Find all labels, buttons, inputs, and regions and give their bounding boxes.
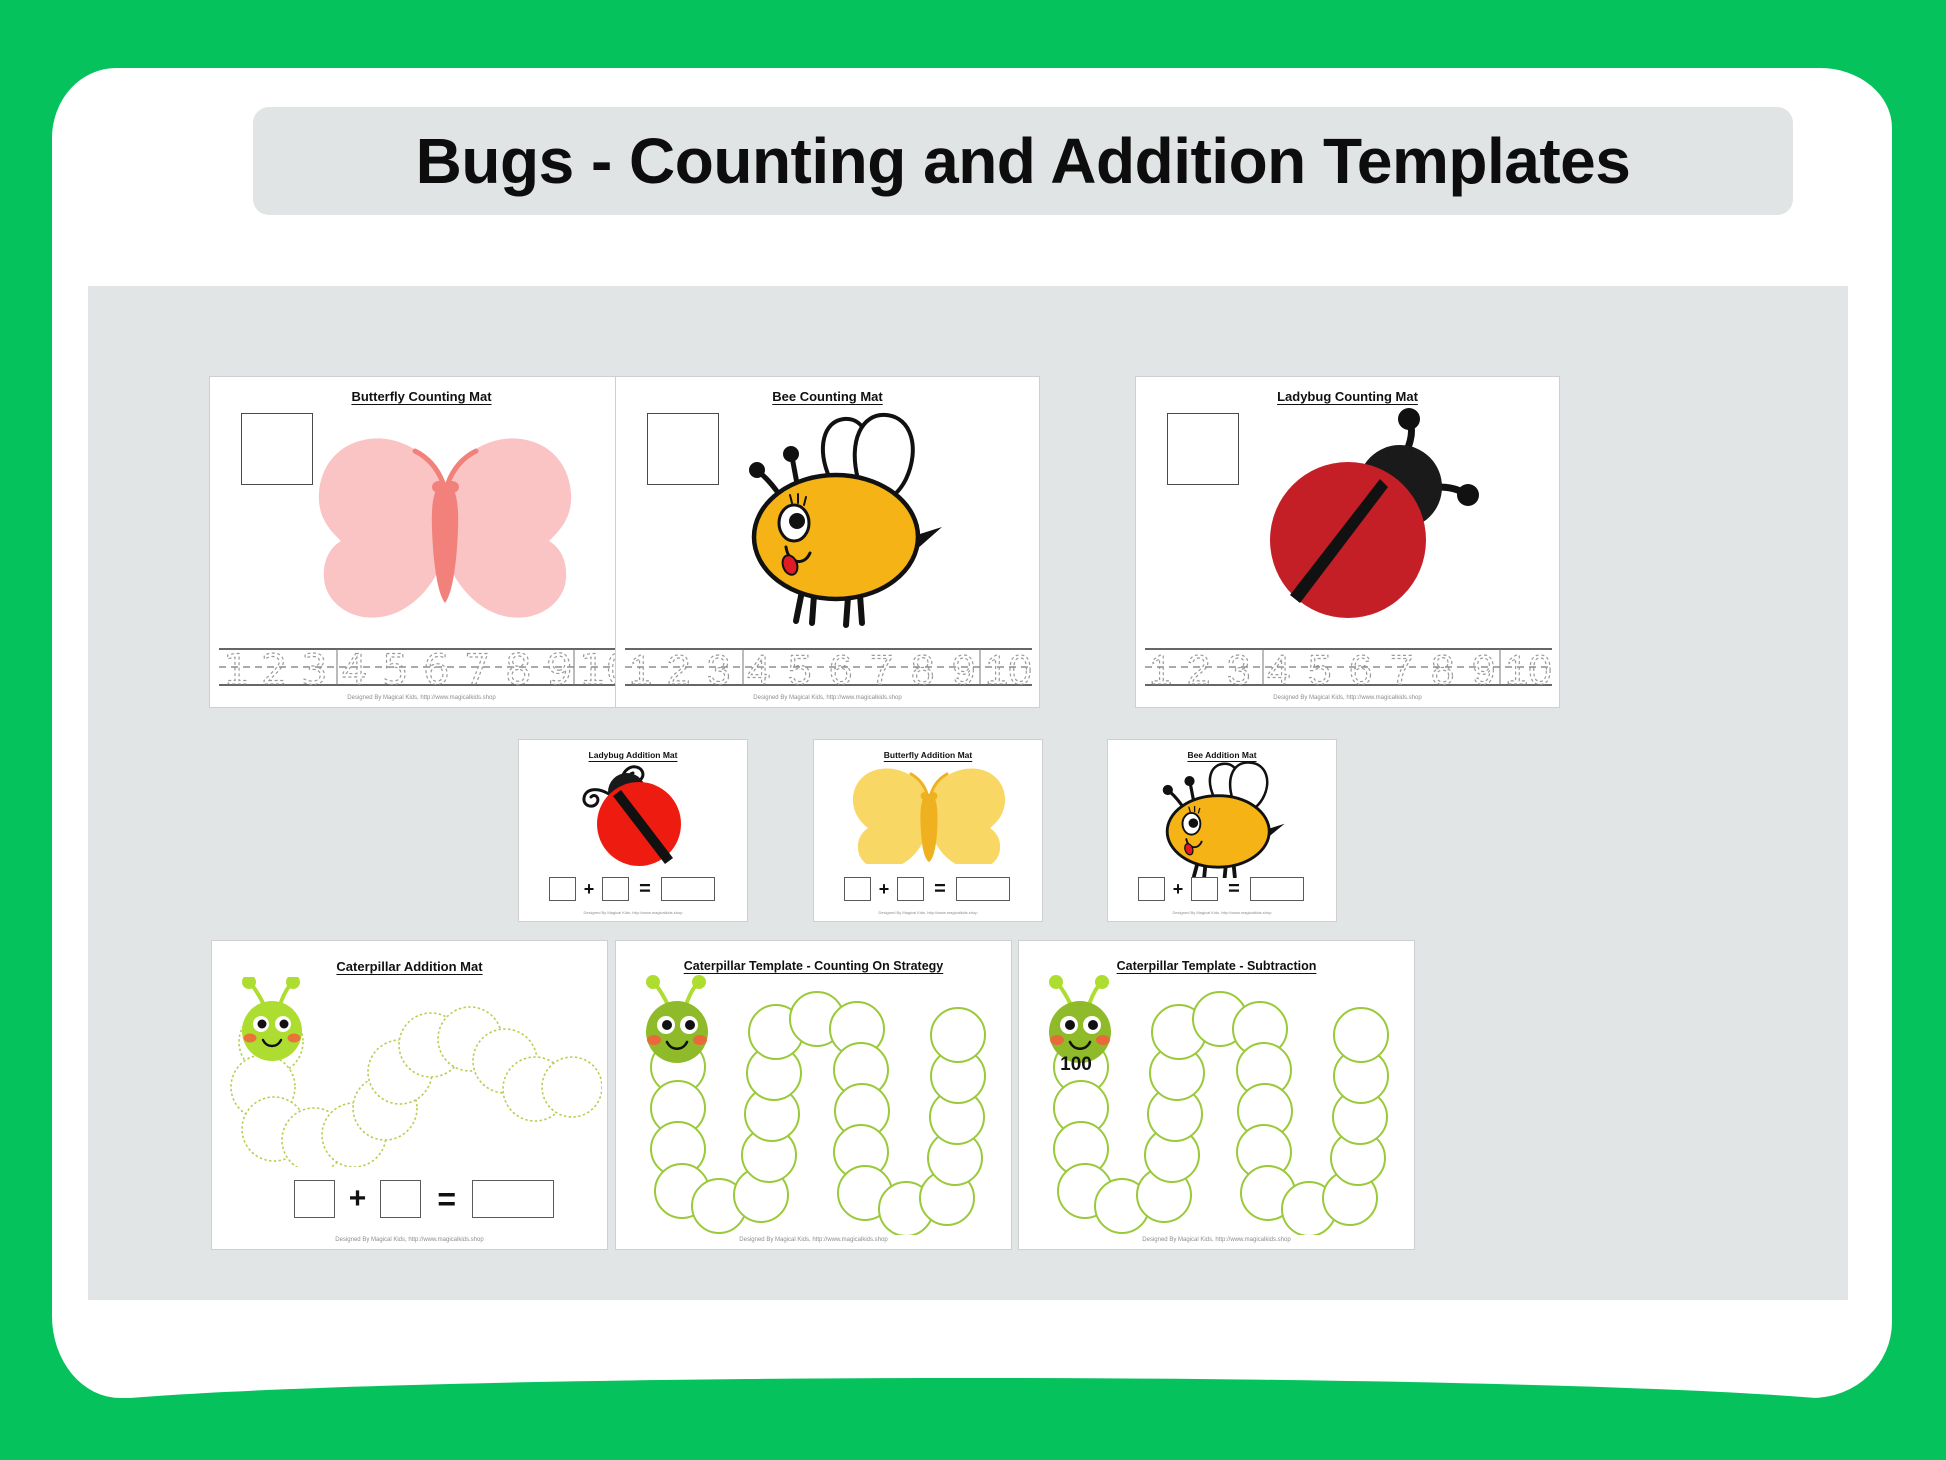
equation-row[interactable]: + = [844,876,1014,902]
sum-box[interactable] [956,877,1010,901]
card-footer: Designed By Magical Kids, http://www.mag… [814,910,1042,915]
svg-text:5: 5 [788,646,811,689]
svg-text:7: 7 [1390,646,1413,689]
card-footer: Designed By Magical Kids, http://www.mag… [1136,695,1559,701]
sum-box[interactable] [661,877,715,901]
addend-2-box[interactable] [1191,877,1218,901]
answer-square[interactable] [647,413,719,485]
plus-symbol: + [876,880,892,898]
sum-box[interactable] [472,1180,554,1218]
card-title: Caterpillar Addition Mat [212,959,607,974]
tracing-numbers-svg: 1 2 3 4 5 6 7 8 9 10 [623,645,1034,689]
card-bee-counting-mat[interactable]: Bee Counting Mat [615,376,1040,708]
butterfly-yellow-icon [850,762,1008,864]
card-title: Butterfly Addition Mat [814,750,1042,760]
svg-text:3: 3 [1227,646,1250,689]
tracing-numbers-svg: 1 2 3 4 5 6 7 8 9 10 [1143,645,1554,689]
card-title: Butterfly Counting Mat [210,389,633,404]
page-title: Bugs - Counting and Addition Templates [416,124,1631,198]
ladybug-bright-icon [569,762,699,870]
caterpillar-head-icon [646,975,708,1063]
card-caterpillar-subtraction[interactable]: Caterpillar Template - Subtraction [1018,940,1415,1250]
plus-symbol: + [1170,880,1186,898]
svg-text:8: 8 [1431,646,1454,689]
card-ladybug-addition-mat[interactable]: Ladybug Addition Mat + = Designed By Mag… [518,739,748,922]
card-footer: Designed By Magical Kids, http://www.mag… [616,695,1039,701]
svg-text:5: 5 [382,645,409,689]
card-bee-addition-mat[interactable]: Bee Addition Mat [1107,739,1337,922]
equals-symbol: = [433,1183,460,1215]
card-footer: Designed By Magical Kids, http://www.mag… [1108,910,1336,915]
addend-1-box[interactable] [294,1180,335,1218]
svg-text:6: 6 [1349,646,1372,689]
caterpillar-uu-field[interactable] [1027,963,1409,1235]
card-ladybug-counting-mat[interactable]: Ladybug Counting Mat 1 [1135,376,1560,708]
svg-text:1: 1 [223,645,250,689]
svg-text:8: 8 [911,646,934,689]
templates-board: Butterfly Counting Mat 1 2 3 [88,286,1848,1300]
svg-text:2: 2 [261,645,288,689]
svg-text:1: 1 [629,646,652,689]
card-footer: Designed By Magical Kids, http://www.mag… [616,1237,1011,1243]
svg-text:2: 2 [1187,646,1210,689]
svg-text:3: 3 [707,646,730,689]
equation-row[interactable]: + = [294,1179,554,1219]
card-footer: Designed By Magical Kids, http://www.mag… [212,1237,607,1243]
bee-icon [1148,760,1298,878]
card-title: Ladybug Counting Mat [1136,389,1559,404]
caterpillar-wave-field[interactable] [222,977,602,1167]
svg-text:7: 7 [464,645,491,689]
card-footer: Designed By Magical Kids, http://www.mag… [1019,1237,1414,1243]
plus-symbol: + [347,1184,368,1214]
card-caterpillar-counting-on[interactable]: Caterpillar Template - Counting On Strat… [615,940,1012,1250]
svg-text:9: 9 [1472,646,1495,689]
svg-text:10: 10 [1505,646,1552,689]
addend-1-box[interactable] [549,877,576,901]
answer-square[interactable] [1167,413,1239,485]
subtraction-start-value: 100 [1045,1054,1107,1076]
svg-text:8: 8 [505,645,532,689]
svg-text:10: 10 [985,646,1032,689]
equals-symbol: = [1223,879,1245,899]
butterfly-pink-icon [315,417,575,632]
svg-text:9: 9 [546,645,573,689]
svg-text:9: 9 [952,646,975,689]
card-footer: Designed By Magical Kids, http://www.mag… [519,910,747,915]
svg-text:4: 4 [747,646,770,689]
addend-1-box[interactable] [844,877,871,901]
bee-icon [726,407,961,637]
page-title-pill: Bugs - Counting and Addition Templates [253,107,1793,215]
svg-text:2: 2 [667,646,690,689]
card-title: Ladybug Addition Mat [519,750,747,760]
card-title: Bee Addition Mat [1108,750,1336,760]
caterpillar-uu-field[interactable] [624,963,1006,1235]
svg-text:3: 3 [301,645,328,689]
caterpillar-head-icon [242,977,302,1061]
ladybug-dark-icon [1242,407,1482,632]
svg-text:1: 1 [1149,646,1172,689]
svg-text:6: 6 [423,645,450,689]
card-butterfly-counting-mat[interactable]: Butterfly Counting Mat 1 2 3 [209,376,634,708]
addend-2-box[interactable] [897,877,924,901]
svg-text:4: 4 [1267,646,1290,689]
card-caterpillar-addition-mat[interactable]: Caterpillar Addition Mat [211,940,608,1250]
tracing-number-strip[interactable]: 1 2 3 4 5 6 7 8 9 10 [217,645,628,689]
addend-2-box[interactable] [380,1180,421,1218]
tracing-number-strip[interactable]: 1 2 3 4 5 6 7 8 9 10 [1143,645,1554,689]
tracing-number-strip[interactable]: 1 2 3 4 5 6 7 8 9 10 [623,645,1034,689]
svg-text:6: 6 [829,646,852,689]
caterpillar-head-icon [1049,975,1111,1063]
sum-box[interactable] [1250,877,1304,901]
svg-text:4: 4 [341,645,368,689]
equation-row[interactable]: + = [549,876,719,902]
plus-symbol: + [581,880,597,898]
equals-symbol: = [634,879,656,899]
svg-text:7: 7 [870,646,893,689]
card-footer: Designed By Magical Kids, http://www.mag… [210,695,633,701]
tracing-numbers-svg: 1 2 3 4 5 6 7 8 9 10 [217,645,628,689]
card-butterfly-addition-mat[interactable]: Butterfly Addition Mat + = Designed By M… [813,739,1043,922]
equals-symbol: = [929,879,951,899]
addend-1-box[interactable] [1138,877,1165,901]
equation-row[interactable]: + = [1138,876,1308,902]
svg-text:5: 5 [1308,646,1331,689]
card-title: Bee Counting Mat [616,389,1039,404]
answer-square[interactable] [241,413,313,485]
addend-2-box[interactable] [602,877,629,901]
